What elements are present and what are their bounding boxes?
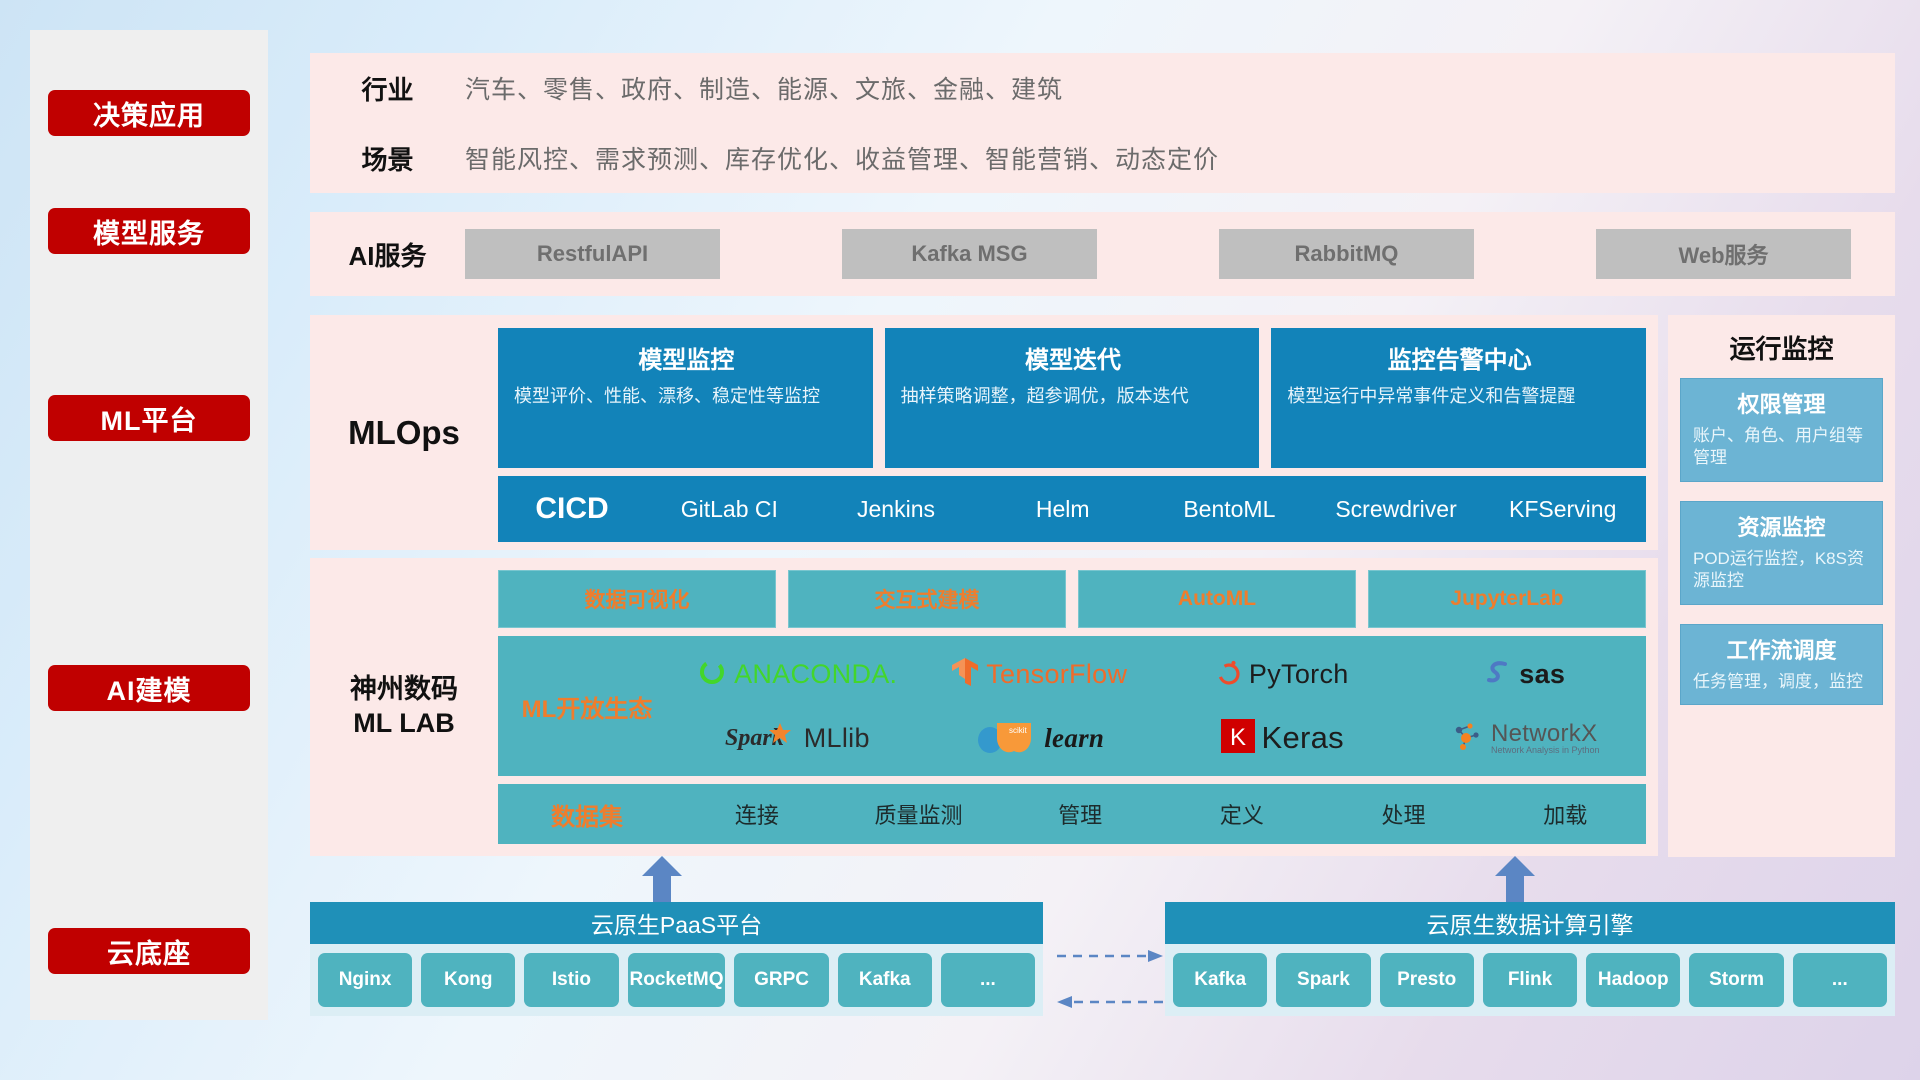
stage-label: 模型服务 [93,212,205,251]
mlops-card-alert-center[interactable]: 监控告警中心 模型运行中异常事件定义和告警提醒 [1271,328,1646,468]
cicd-bar: CICD GitLab CI Jenkins Helm BentoML Scre… [498,476,1646,542]
industry-label: 行业 [310,70,465,107]
mlops-card-model-iteration[interactable]: 模型迭代 抽样策略调整，超参调优，版本迭代 [885,328,1260,468]
dataset-item-connect[interactable]: 连接 [676,798,838,830]
runtime-monitor-title: 运行监控 [1668,315,1895,378]
cloud-paas-title: 云原生PaaS平台 [310,902,1043,944]
card-desc: 模型评价、性能、漂移、稳定性等监控 [514,384,859,408]
ai-service-items: RestfulAPI Kafka MSG RabbitMQ Web服务 [465,229,1895,279]
ml-lab-line2: ML LAB [353,707,455,741]
tool-chip-interactive-modeling[interactable]: 交互式建模 [788,570,1066,628]
paas-up-arrow-icon [640,856,684,902]
dataset-item-loading[interactable]: 加载 [1484,798,1646,830]
cloud-paas-chips: Nginx Kong Istio RocketMQ GRPC Kafka ... [310,944,1043,1016]
data-chip-hadoop[interactable]: Hadoop [1586,953,1680,1007]
anaconda-icon [697,657,727,692]
runtime-monitor-band: 运行监控 权限管理 账户、角色、用户组等管理 资源监控 POD运行监控，K8S资… [1668,315,1895,857]
networkx-tagline: Network Analysis in Python [1491,746,1600,755]
tool-chip-automl[interactable]: AutoML [1078,570,1356,628]
service-chip-restfulapi[interactable]: RestfulAPI [465,229,720,279]
monitor-card-permission[interactable]: 权限管理 账户、角色、用户组等管理 [1680,378,1883,482]
logo-text: PyTorch [1249,659,1349,690]
service-chip-rabbitmq[interactable]: RabbitMQ [1219,229,1474,279]
paas-chip-grpc[interactable]: GRPC [734,953,828,1007]
mlops-label: MLOps [310,315,498,550]
card-title: 权限管理 [1693,387,1870,419]
cicd-item-kfserving[interactable]: KFServing [1479,498,1646,521]
cloud-data-engine-chips: Kafka Spark Presto Flink Hadoop Storm ..… [1165,944,1895,1016]
stage-label: AI建模 [107,669,192,708]
data-chip-spark[interactable]: Spark [1276,953,1370,1007]
networkx-icon [1450,720,1484,757]
spark-icon: Spark [725,719,797,758]
ai-modeling-band: 神州数码 ML LAB 数据可视化 交互式建模 AutoML JupyterLa… [310,558,1658,856]
card-title: 模型迭代 [901,340,1246,375]
scenario-values: 智能风控、需求预测、库存优化、收益管理、智能营销、动态定价 [465,140,1219,176]
card-desc: 抽样策略调整，超参调优，版本迭代 [901,384,1246,408]
modeling-tool-row: 数据可视化 交互式建模 AutoML JupyterLab [498,570,1646,628]
ai-service-band: AI服务 RestfulAPI Kafka MSG RabbitMQ Web服务 [310,212,1895,296]
tool-chip-jupyterlab[interactable]: JupyterLab [1368,570,1646,628]
card-title: 监控告警中心 [1287,340,1632,375]
cloud-data-engine-title: 云原生数据计算引擎 [1165,902,1895,944]
stage-chip-ai-modeling[interactable]: AI建模 [48,665,250,711]
ml-lab-line1: 神州数码 [350,673,458,707]
logo-tensorflow[interactable]: TensorFlow [919,642,1162,706]
logo-text: MLlib [804,723,870,754]
paas-chip-kong[interactable]: Kong [421,953,515,1007]
logo-text: NetworkX [1491,722,1600,746]
cicd-item-gitlab-ci[interactable]: GitLab CI [646,498,813,521]
logo-text: TensorFlow [986,659,1127,690]
cicd-item-screwdriver[interactable]: Screwdriver [1313,498,1480,521]
dataset-item-definition[interactable]: 定义 [1161,798,1323,830]
monitor-card-workflow[interactable]: 工作流调度 任务管理，调度，监控 [1680,624,1883,705]
paas-chip-kafka[interactable]: Kafka [838,953,932,1007]
tool-chip-data-visualization[interactable]: 数据可视化 [498,570,776,628]
dataset-row: 数据集 连接 质量监测 管理 定义 处理 加载 [498,784,1646,844]
dataset-label: 数据集 [498,797,676,832]
ml-open-ecosystem-label: ML开放生态 [498,689,676,724]
data-chip-more[interactable]: ... [1793,953,1887,1007]
card-title: 资源监控 [1693,510,1870,542]
dataset-item-processing[interactable]: 处理 [1323,798,1485,830]
logo-text: ANACONDA. [734,659,897,690]
svg-text:scikit: scikit [1009,726,1028,735]
tensorflow-icon [952,657,979,692]
industry-row: 行业 汽车、零售、政府、制造、能源、文旅、金融、建筑 [310,53,1895,123]
sas-icon [1484,657,1512,692]
stage-chip-model-service[interactable]: 模型服务 [48,208,250,254]
stage-label: 云底座 [107,932,191,971]
ecosystem-logo-grid: ANACONDA. TensorFlow PyTorch [676,642,1646,770]
card-title: 工作流调度 [1693,633,1870,665]
ai-service-label: AI服务 [310,236,465,273]
dataset-item-quality-monitoring[interactable]: 质量监测 [838,798,1000,830]
card-title: 模型监控 [514,340,859,375]
logo-text: learn [1044,723,1104,754]
stage-chip-decision[interactable]: 决策应用 [48,90,250,136]
dataset-item-management[interactable]: 管理 [999,798,1161,830]
paas-chip-more[interactable]: ... [941,953,1035,1007]
stage-chip-ml-platform[interactable]: ML平台 [48,395,250,441]
decision-applications-band: 行业 汽车、零售、政府、制造、能源、文旅、金融、建筑 场景 智能风控、需求预测、… [310,53,1895,193]
scenario-label: 场景 [310,140,465,177]
mlops-card-model-monitoring[interactable]: 模型监控 模型评价、性能、漂移、稳定性等监控 [498,328,873,468]
scikit-learn-icon: scikit [975,718,1037,759]
cloud-data-engine-group: 云原生数据计算引擎 Kafka Spark Presto Flink Hadoo… [1165,902,1895,1016]
logo-anaconda[interactable]: ANACONDA. [676,642,919,706]
cicd-label: CICD [498,492,646,526]
logo-text: sas [1519,659,1565,690]
card-desc: 模型运行中异常事件定义和告警提醒 [1287,384,1632,408]
logo-spark-mllib[interactable]: Spark MLlib [676,706,919,770]
logo-pytorch[interactable]: PyTorch [1161,642,1404,706]
paas-chip-istio[interactable]: Istio [524,953,618,1007]
service-chip-kafka-msg[interactable]: Kafka MSG [842,229,1097,279]
data-chip-kafka[interactable]: Kafka [1173,953,1267,1007]
dataset-items: 连接 质量监测 管理 定义 处理 加载 [676,798,1646,830]
ml-open-ecosystem-row: ML开放生态 ANACONDA. TensorFlow [498,636,1646,776]
stage-rail: 决策应用 模型服务 ML平台 AI建模 云底座 [30,30,268,1020]
cicd-item-bentoml[interactable]: BentoML [1146,498,1313,521]
data-chip-presto[interactable]: Presto [1380,953,1474,1007]
service-chip-web-service[interactable]: Web服务 [1596,229,1851,279]
bidirectional-connector-icon [1055,940,1155,1030]
ml-lab-label: 神州数码 ML LAB [310,558,498,856]
stage-label: ML平台 [101,399,198,438]
monitor-card-resource[interactable]: 资源监控 POD运行监控，K8S资源监控 [1680,501,1883,605]
logo-sas[interactable]: sas [1404,642,1647,706]
cicd-item-helm[interactable]: Helm [979,498,1146,521]
logo-keras[interactable]: K Keras [1161,706,1404,770]
cicd-item-jenkins[interactable]: Jenkins [813,498,980,521]
cloud-paas-group: 云原生PaaS平台 Nginx Kong Istio RocketMQ GRPC… [310,902,1043,1016]
cicd-items: GitLab CI Jenkins Helm BentoML Screwdriv… [646,498,1646,521]
card-desc: 任务管理，调度，监控 [1693,671,1870,693]
data-chip-flink[interactable]: Flink [1483,953,1577,1007]
scenario-row: 场景 智能风控、需求预测、库存优化、收益管理、智能营销、动态定价 [310,123,1895,193]
logo-scikit-learn[interactable]: scikit learn [919,706,1162,770]
stage-chip-cloud-base[interactable]: 云底座 [48,928,250,974]
keras-icon: K [1221,719,1255,758]
paas-chip-rocketmq[interactable]: RocketMQ [628,953,726,1007]
data-chip-storm[interactable]: Storm [1689,953,1783,1007]
mlops-cards: 模型监控 模型评价、性能、漂移、稳定性等监控 模型迭代 抽样策略调整，超参调优，… [498,328,1646,468]
industry-values: 汽车、零售、政府、制造、能源、文旅、金融、建筑 [465,70,1063,106]
card-desc: POD运行监控，K8S资源监控 [1693,548,1870,593]
stage-label: 决策应用 [93,94,205,133]
pytorch-icon [1216,657,1242,692]
svg-text:K: K [1229,724,1245,751]
mlops-band: MLOps 模型监控 模型评价、性能、漂移、稳定性等监控 模型迭代 抽样策略调整… [310,315,1658,550]
card-desc: 账户、角色、用户组等管理 [1693,425,1870,470]
paas-chip-nginx[interactable]: Nginx [318,953,412,1007]
data-engine-up-arrow-icon [1493,856,1537,902]
logo-text: Keras [1262,720,1344,756]
logo-networkx[interactable]: NetworkX Network Analysis in Python [1404,706,1647,770]
